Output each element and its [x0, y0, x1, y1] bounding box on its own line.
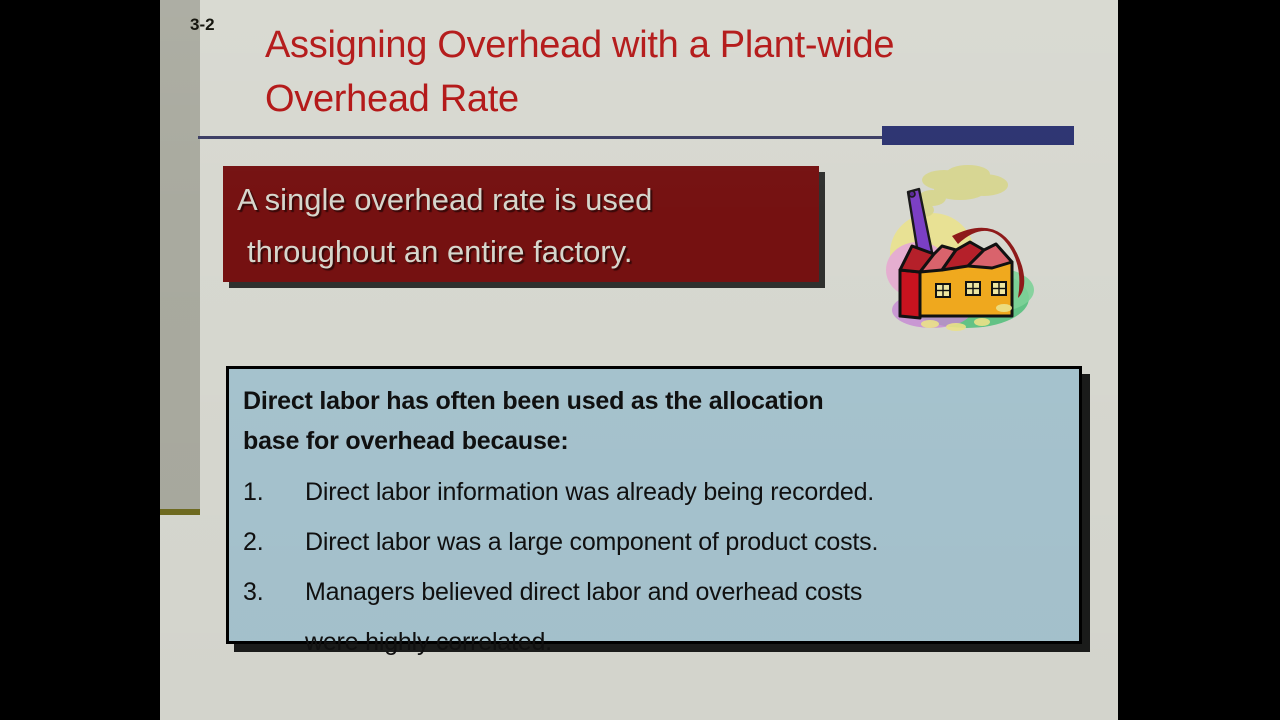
- list-item-number: 1.: [243, 467, 285, 517]
- list-item-number: 2.: [243, 517, 285, 567]
- list-item: 3. Managers believed direct labor and ov…: [243, 567, 1065, 667]
- slide-number: 3-2: [190, 15, 215, 35]
- reason-list: 1. Direct labor information was already …: [243, 467, 1065, 667]
- slide-left-accent-cap: [160, 509, 200, 515]
- factory-clipart: [872, 158, 1052, 340]
- red-callout-line-1: A single overhead rate is used: [237, 174, 805, 226]
- page-title: Assigning Overhead with a Plant-wide Ove…: [265, 18, 1065, 126]
- list-item-text: Direct labor information was already bei…: [305, 467, 1065, 517]
- title-accent-block: [882, 126, 1074, 145]
- list-item-number: 3.: [243, 567, 285, 617]
- content-lead-line-2: base for overhead because:: [243, 421, 1065, 461]
- content-box: Direct labor has often been used as the …: [226, 366, 1082, 644]
- list-item: 1. Direct labor information was already …: [243, 467, 1065, 517]
- screenshot-stage: 3-2 Assigning Overhead with a Plant-wide…: [0, 0, 1280, 720]
- red-callout-line-2: throughout an entire factory.: [237, 226, 805, 278]
- presentation-slide: 3-2 Assigning Overhead with a Plant-wide…: [160, 0, 1118, 720]
- list-item: 2. Direct labor was a large component of…: [243, 517, 1065, 567]
- list-item-text: Direct labor was a large component of pr…: [305, 517, 1065, 567]
- list-item-text-continued: were highly correlated.: [305, 617, 1065, 667]
- content-lead-line-1: Direct labor has often been used as the …: [243, 381, 1065, 421]
- slide-left-accent-band: [160, 0, 200, 512]
- title-divider-rule: [198, 136, 886, 139]
- list-item-text: Managers believed direct labor and overh…: [305, 567, 1065, 617]
- red-callout-box: A single overhead rate is used throughou…: [223, 166, 819, 282]
